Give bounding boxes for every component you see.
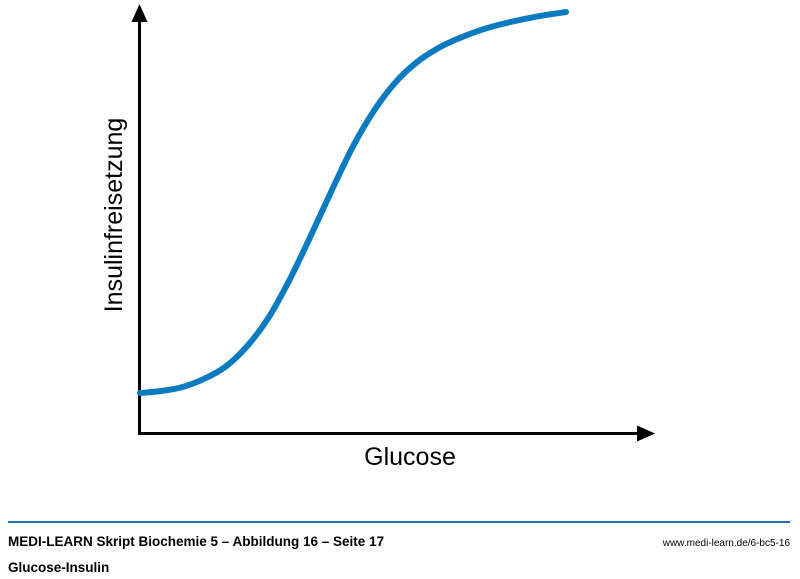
footer-divider <box>8 521 790 523</box>
y-axis-label: Insulinfreisetzung <box>100 65 129 365</box>
footer-url: www.medi-learn.de/6-bc5-16 <box>663 538 790 549</box>
figure-area: Insulinfreisetzung Glucose <box>0 0 800 505</box>
footer-top-row: MEDI-LEARN Skript Biochemie 5 – Abbildun… <box>8 534 790 549</box>
x-axis-label: Glucose <box>310 443 510 472</box>
sigmoid-curve <box>140 12 566 393</box>
y-axis-arrow-icon <box>132 4 148 22</box>
x-axis <box>138 426 655 442</box>
y-axis <box>132 4 148 434</box>
footer-source-title: MEDI-LEARN Skript Biochemie 5 – Abbildun… <box>8 534 384 549</box>
footer: MEDI-LEARN Skript Biochemie 5 – Abbildun… <box>0 505 800 579</box>
x-axis-arrow-icon <box>637 426 655 442</box>
footer-figure-subtitle: Glucose-Insulin <box>8 560 109 575</box>
